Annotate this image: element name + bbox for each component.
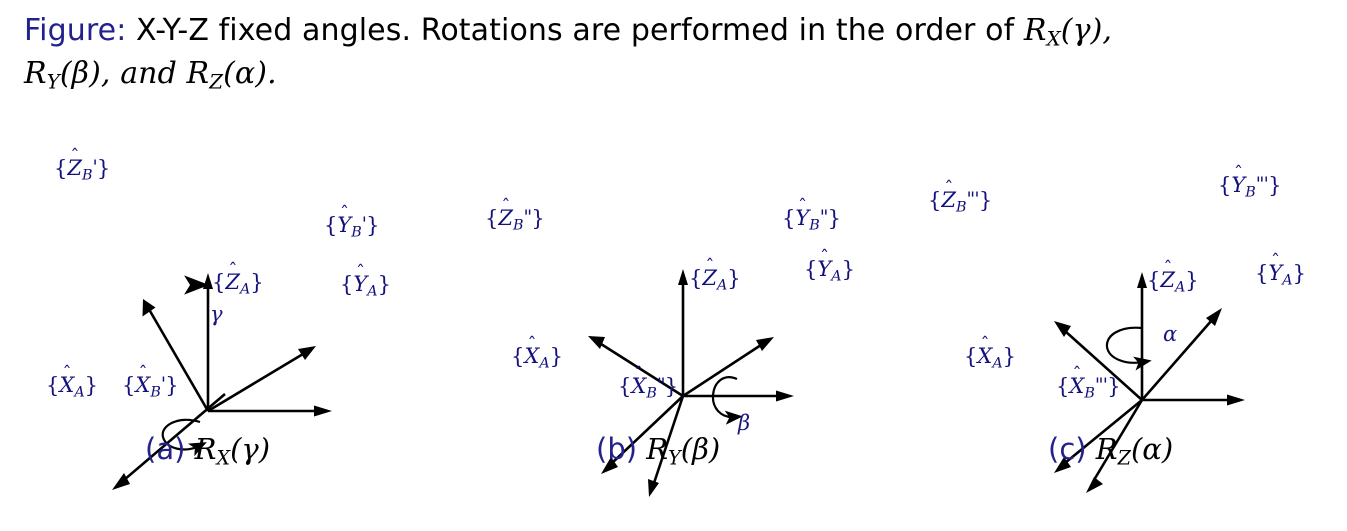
subcaption-arg-a: (γ): [230, 432, 270, 466]
arrowhead-ya-c: [1227, 395, 1245, 406]
subcaption-tag-b: (b): [596, 432, 637, 466]
angle-label-alpha: α: [1163, 322, 1177, 346]
label-xb-b: {ˆXB"}: [618, 374, 678, 402]
axis-yb-b: [683, 345, 761, 396]
label-xa-a: {ˆXA}: [46, 373, 98, 401]
caption-alpha-arg: (α).: [223, 56, 277, 91]
diagram-panel-c: {ˆZA} {ˆZB"'} {ˆYB"'} {ˆYA} {ˆXA} {ˆXB"'…: [898, 126, 1347, 426]
axis-yb-a: [208, 354, 303, 411]
caption-ry-subscript: Y: [47, 70, 60, 93]
label-zb-b: {ˆZB"}: [485, 206, 545, 234]
subcaption-c: (c) RZ(α): [1048, 432, 1173, 469]
arrowhead-xb-b: [648, 479, 659, 497]
label-xb-a: {ˆXB'}: [122, 373, 179, 401]
label-za-a: {ˆZA}: [212, 270, 264, 298]
label-yb-c: {ˆYB"'}: [1218, 173, 1281, 201]
caption-rz-symbol: R: [187, 56, 210, 91]
label-za-b: {ˆZA}: [689, 266, 741, 294]
label-ya-c: {ˆYA}: [1255, 261, 1306, 289]
arrowhead-yb-b: [756, 337, 774, 351]
label-ya-a: {ˆYA}: [340, 272, 391, 300]
figure-caption: Figure: X-Y-Z fixed angles. Rotations ar…: [24, 10, 1324, 96]
arrowhead-xb-c: [1086, 477, 1103, 493]
subcaption-r-c: R: [1096, 432, 1118, 466]
subcaption-b: (b) RY(β): [596, 432, 720, 469]
subcaption-tag-a: (a): [145, 432, 185, 466]
label-xa-b: {ˆXA}: [511, 344, 563, 372]
label-zb-c: {ˆZB"'}: [928, 188, 992, 216]
label-xb-c: {ˆXB"'}: [1056, 374, 1121, 402]
rotation-arc-alpha: [1107, 328, 1143, 363]
arrowhead-ya-a: [314, 406, 332, 417]
angle-label-beta: β: [738, 411, 750, 435]
subcaption-tag-c: (c): [1048, 432, 1087, 466]
arrowhead-za-b: [678, 269, 688, 285]
caption-ry-symbol: R: [24, 56, 47, 91]
label-ya-b: {ˆYA}: [804, 257, 855, 285]
label-za-c: {ˆZA}: [1147, 268, 1199, 296]
diagram-panel-b: {ˆZA} {ˆZB"} {ˆYB"} {ˆYA} {ˆXA} {ˆXB"} β: [449, 126, 898, 426]
arrowhead-ya-b: [776, 391, 794, 402]
arrowhead-zb-b: [588, 336, 605, 349]
subcaption-sub-a: X: [216, 446, 230, 469]
subcaption-a: (a) RX(γ): [145, 432, 270, 469]
caption-rz-subscript: Z: [209, 70, 223, 93]
caption-rx-subscript: X: [1047, 28, 1061, 51]
subcaption-sub-b: Y: [668, 446, 681, 469]
diagram-panel-a: {ˆZA} {ˆZB'} {ˆYB'} {ˆYA} {ˆXA} {ˆXB'} γ: [0, 126, 449, 426]
label-zb-a: {ˆZB'}: [54, 156, 110, 184]
label-yb-b: {ˆYB"}: [782, 206, 841, 234]
label-xa-c: {ˆXA}: [964, 344, 1016, 372]
caption-beta-arg: (β), and: [60, 56, 187, 91]
subcaption-arg-c: (α): [1131, 432, 1173, 466]
caption-rx-symbol: R: [1024, 13, 1047, 48]
caption-line1-text: X-Y-Z fixed angles. Rotations are perfor…: [126, 13, 1023, 48]
subcaption-sub-c: Z: [1118, 446, 1131, 469]
angle-label-gamma: γ: [210, 302, 223, 326]
caption-gamma-arg: (γ),: [1061, 13, 1112, 48]
subcaption-r-b: R: [646, 432, 668, 466]
label-yb-a: {ˆYB'}: [324, 213, 380, 241]
arrowhead-yb-a: [298, 346, 316, 360]
arrowhead-zb-a: [143, 299, 156, 317]
figure-keyword: Figure:: [24, 13, 126, 48]
subcaption-r-a: R: [195, 432, 217, 466]
arrowhead-za-c: [1137, 272, 1147, 288]
subcaption-arg-b: (β): [681, 432, 720, 466]
